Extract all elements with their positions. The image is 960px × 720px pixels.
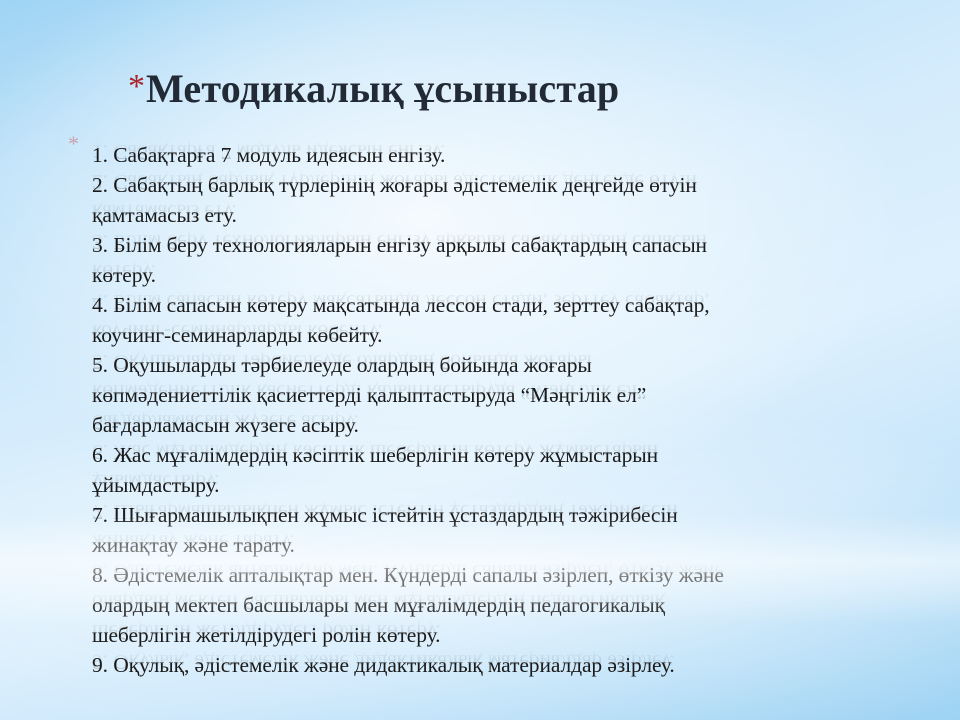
body-line-text: 6. Жас мұғалімдердің кәсіптік шеберлігін… (92, 440, 892, 470)
body-line-text: ұйымдастыру. (92, 470, 892, 500)
body-line: 1. Сабақтарға 7 модуль идеясын енгізу.1.… (92, 140, 892, 170)
body-line-text: 7. Шығармашылықпен жұмыс істейтін ұстазд… (92, 500, 892, 530)
body-line: 5. Оқушыларды тәрбиелеуде олардың бойынд… (92, 350, 892, 380)
body-line: 8. Әдістемелік апталықтар мен. Күндерді … (92, 560, 892, 590)
body-line-text: 4. Білім сапасын көтеру мақсатында лессо… (92, 290, 892, 320)
body-line: 4. Білім сапасын көтеру мақсатында лессо… (92, 290, 892, 320)
slide-title: * Методикалық ұсыныстар (128, 68, 619, 110)
body-line: 6. Жас мұғалімдердің кәсіптік шеберлігін… (92, 440, 892, 470)
body-line-text: 5. Оқушыларды тәрбиелеуде олардың бойынд… (92, 350, 892, 380)
body-line: көтеру.көтеру. (92, 260, 892, 290)
body-line: бағдарламасын жүзеге асыру.бағдарламасын… (92, 410, 892, 440)
body-line-text: көпмәдениеттілік қасиеттерді қалыптастыр… (92, 380, 892, 410)
asterisk-bullet-icon: * (128, 70, 145, 104)
body-line: 9. Оқулық, әдістемелік және дидактикалық… (92, 650, 892, 680)
body-line-text: жинақтау және тарату. (92, 530, 892, 560)
body-line-text: шеберлігін жетілдірудегі ролін көтеру. (92, 620, 892, 650)
body-line-text: көтеру. (92, 260, 892, 290)
page-title: Методикалық ұсыныстар (146, 68, 619, 110)
body-line: 3. Білім беру технологияларын енгізу арқ… (92, 230, 892, 260)
body-asterisk-bullet-icon: * (68, 133, 79, 155)
body-line-text: олардың мектеп басшылары мен мұғалімдерд… (92, 590, 892, 620)
body-line: коучинг-семинарларды көбейту.коучинг-сем… (92, 320, 892, 350)
body-line-text: 8. Әдістемелік апталықтар мен. Күндерді … (92, 560, 892, 590)
presentation-slide: * Методикалық ұсыныстар * 1. Сабақтарға … (0, 0, 960, 720)
body-line: ұйымдастыру.ұйымдастыру. (92, 470, 892, 500)
body-line-text: қамтамасыз ету. (92, 200, 892, 230)
body-text-block: 1. Сабақтарға 7 модуль идеясын енгізу.1.… (92, 140, 892, 680)
body-line-text: 3. Білім беру технологияларын енгізу арқ… (92, 230, 892, 260)
body-line: 7. Шығармашылықпен жұмыс істейтін ұстазд… (92, 500, 892, 530)
body-line: олардың мектеп басшылары мен мұғалімдерд… (92, 590, 892, 620)
body-line: шеберлігін жетілдірудегі ролін көтеру.ше… (92, 620, 892, 650)
body-line-text: коучинг-семинарларды көбейту. (92, 320, 892, 350)
body-line-text: 9. Оқулық, әдістемелік және дидактикалық… (92, 650, 892, 680)
body-line: 2. Сабақтың барлық түрлерінің жоғары әді… (92, 170, 892, 200)
body-line: көпмәдениеттілік қасиеттерді қалыптастыр… (92, 380, 892, 410)
body-line-text: 2. Сабақтың барлық түрлерінің жоғары әді… (92, 170, 892, 200)
body-line: жинақтау және тарату.жинақтау және тарат… (92, 530, 892, 560)
body-line-text: 1. Сабақтарға 7 модуль идеясын енгізу. (92, 140, 892, 170)
body-line-text: бағдарламасын жүзеге асыру. (92, 410, 892, 440)
body-line: қамтамасыз ету.қамтамасыз ету. (92, 200, 892, 230)
